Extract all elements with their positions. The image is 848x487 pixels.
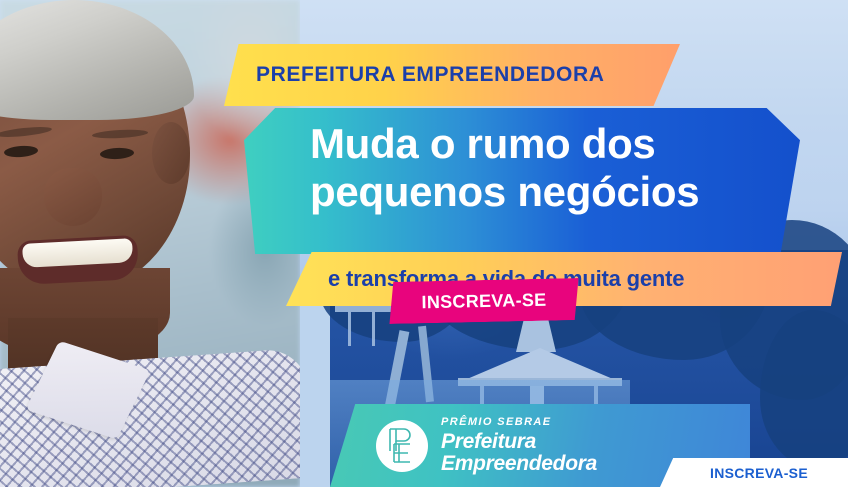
ear bbox=[152, 122, 190, 184]
gazebo-roof bbox=[460, 348, 620, 382]
teeth bbox=[22, 238, 133, 268]
signup-button-secondary-label: INSCREVA-SE bbox=[700, 465, 808, 481]
headline-line-1: Muda o rumo dos bbox=[310, 120, 800, 168]
headline-band: Muda o rumo dos pequenos negócios bbox=[244, 108, 800, 254]
signup-button-secondary[interactable]: INSCREVA-SE bbox=[660, 458, 848, 487]
logo-name-line-2: Empreendedora bbox=[441, 453, 597, 475]
logo-name-line-1: Prefeitura bbox=[441, 431, 597, 453]
nose bbox=[44, 168, 102, 226]
smiling-mouth bbox=[17, 235, 139, 285]
signup-button-primary[interactable]: INSCREVA-SE bbox=[389, 278, 580, 324]
promotional-banner: PREFEITURA EMPREENDEDORA Muda o rumo dos… bbox=[0, 0, 848, 487]
stilt-post bbox=[372, 312, 375, 346]
headline-line-2: pequenos negócios bbox=[310, 168, 800, 216]
kicker-text: PREFEITURA EMPREENDEDORA bbox=[256, 63, 604, 87]
pe-monogram-icon bbox=[376, 420, 428, 472]
stilt-post bbox=[348, 312, 351, 346]
kicker-band: PREFEITURA EMPREENDEDORA bbox=[224, 44, 680, 106]
signup-button-primary-label: INSCREVA-SE bbox=[421, 289, 546, 313]
logo-eyebrow: PRÊMIO SEBRAE bbox=[441, 417, 597, 428]
logo-wordmark: PRÊMIO SEBRAE Prefeitura Empreendedora bbox=[441, 417, 597, 474]
